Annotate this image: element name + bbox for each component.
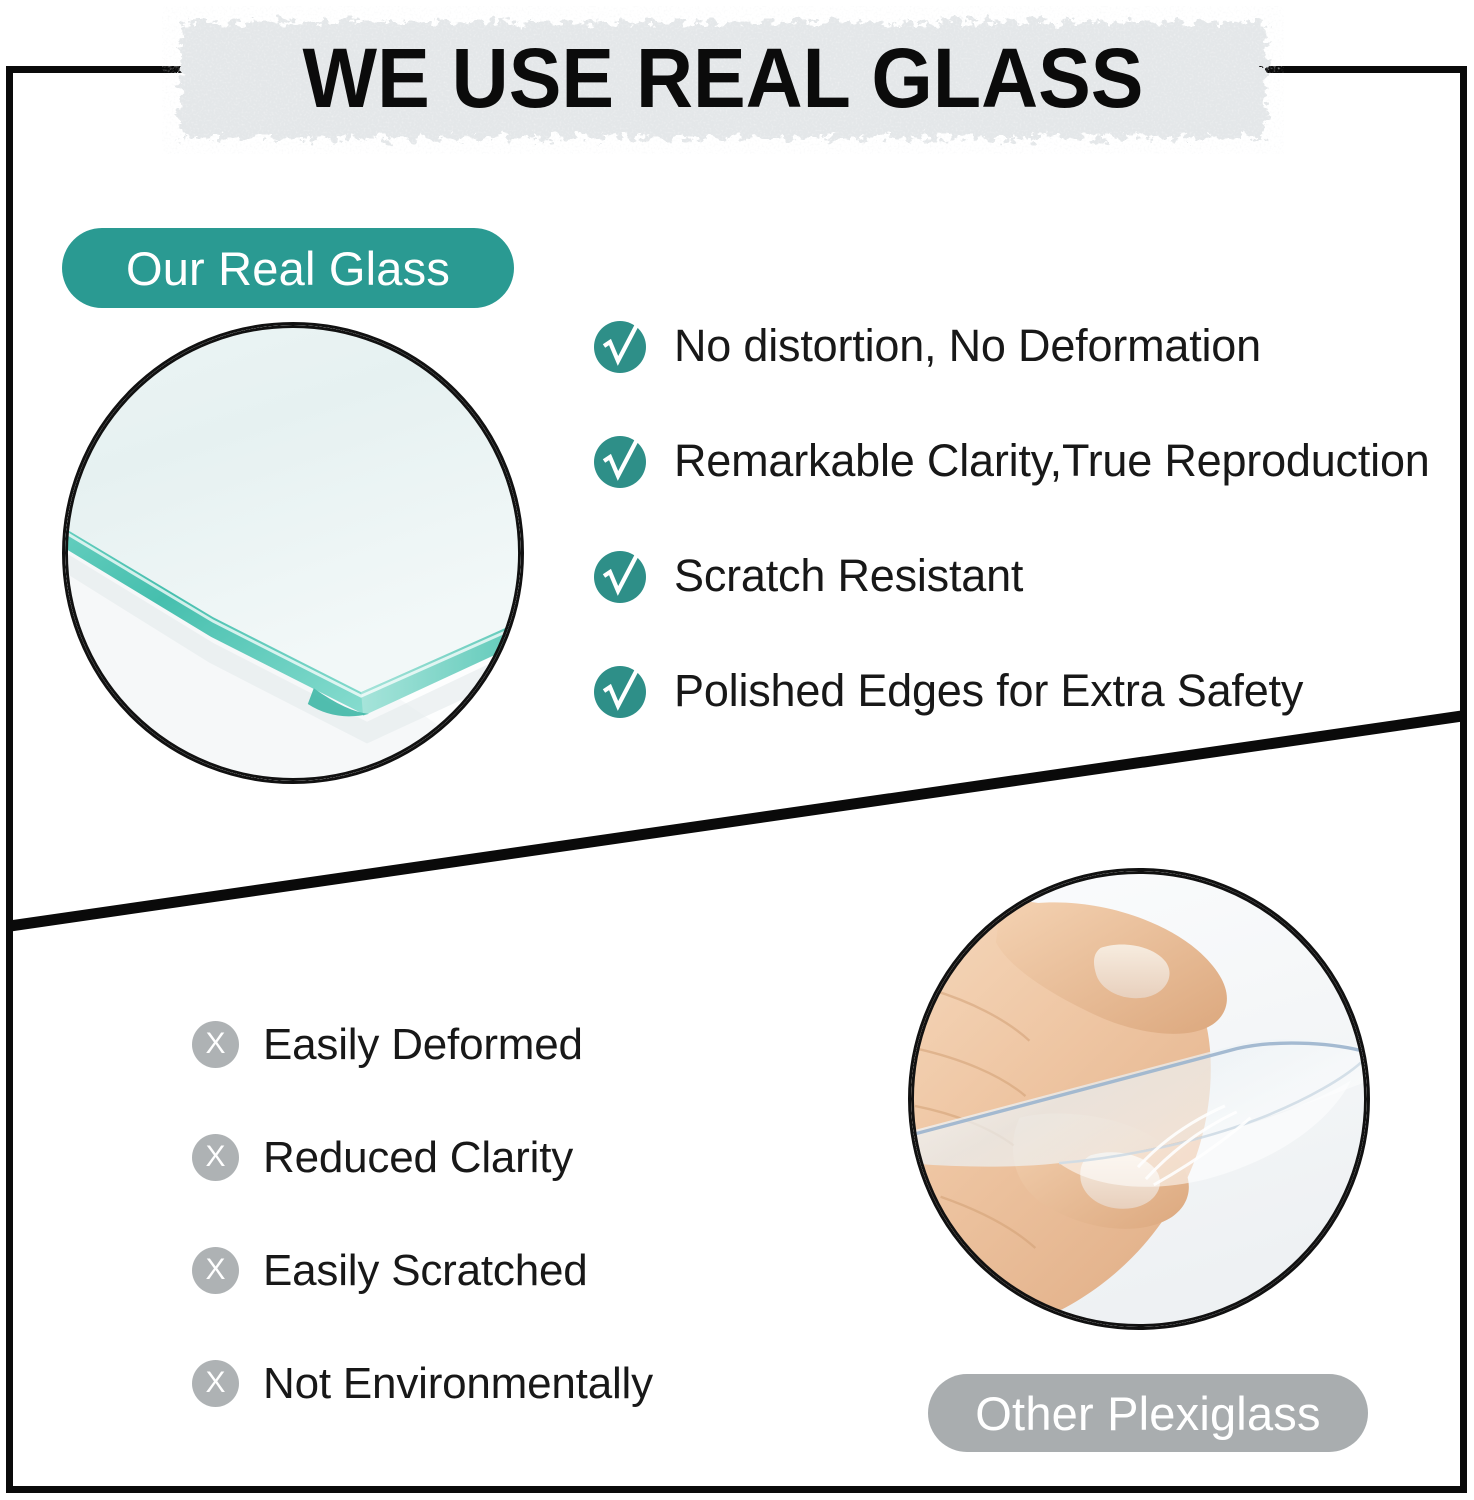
badge-other-plexiglass: Other Plexiglass bbox=[928, 1374, 1368, 1452]
cons-feature-list: X Easily Deformed X Reduced Clarity X Ea… bbox=[192, 988, 832, 1440]
feature-label: Scratch Resistant bbox=[674, 550, 1023, 602]
x-circle-icon: X bbox=[192, 1021, 239, 1068]
title-banner: WE USE REAL GLASS bbox=[162, 6, 1284, 154]
real-glass-photo bbox=[62, 322, 524, 784]
badge-our-real-glass: Our Real Glass bbox=[62, 228, 514, 308]
feature-label: Reduced Clarity bbox=[263, 1133, 573, 1183]
plexiglass-photo bbox=[908, 868, 1370, 1330]
x-icon-glyph: X bbox=[205, 1029, 225, 1059]
badge-other-plexiglass-label: Other Plexiglass bbox=[975, 1386, 1320, 1441]
check-circle-icon bbox=[592, 663, 648, 719]
check-circle-icon bbox=[592, 433, 648, 489]
x-circle-icon: X bbox=[192, 1360, 239, 1407]
feature-row: X Easily Deformed bbox=[192, 988, 832, 1101]
feature-label: No distortion, No Deformation bbox=[674, 320, 1261, 372]
feature-label: Polished Edges for Extra Safety bbox=[674, 665, 1303, 717]
check-circle-icon bbox=[592, 548, 648, 604]
badge-our-real-glass-label: Our Real Glass bbox=[126, 241, 450, 296]
pros-feature-list: No distortion, No Deformation Remarkable… bbox=[592, 288, 1462, 748]
feature-row: Polished Edges for Extra Safety bbox=[592, 633, 1462, 748]
x-icon-glyph: X bbox=[205, 1368, 225, 1398]
x-circle-icon: X bbox=[192, 1247, 239, 1294]
x-icon-glyph: X bbox=[205, 1255, 225, 1285]
feature-row: No distortion, No Deformation bbox=[592, 288, 1462, 403]
x-icon-glyph: X bbox=[205, 1142, 225, 1172]
feature-row: X Not Environmentally bbox=[192, 1327, 832, 1440]
feature-label: Remarkable Clarity,True Reproduction bbox=[674, 435, 1430, 487]
feature-row: Scratch Resistant bbox=[592, 518, 1462, 633]
feature-label: Not Environmentally bbox=[263, 1359, 653, 1409]
check-circle-icon bbox=[592, 318, 648, 374]
feature-row: X Easily Scratched bbox=[192, 1214, 832, 1327]
x-circle-icon: X bbox=[192, 1134, 239, 1181]
poster-canvas: WE USE REAL GLASS Our Real Glass bbox=[0, 0, 1474, 1500]
feature-label: Easily Deformed bbox=[263, 1020, 583, 1070]
page-title: WE USE REAL GLASS bbox=[196, 6, 1251, 154]
feature-row: Remarkable Clarity,True Reproduction bbox=[592, 403, 1462, 518]
feature-label: Easily Scratched bbox=[263, 1246, 588, 1296]
feature-row: X Reduced Clarity bbox=[192, 1101, 832, 1214]
